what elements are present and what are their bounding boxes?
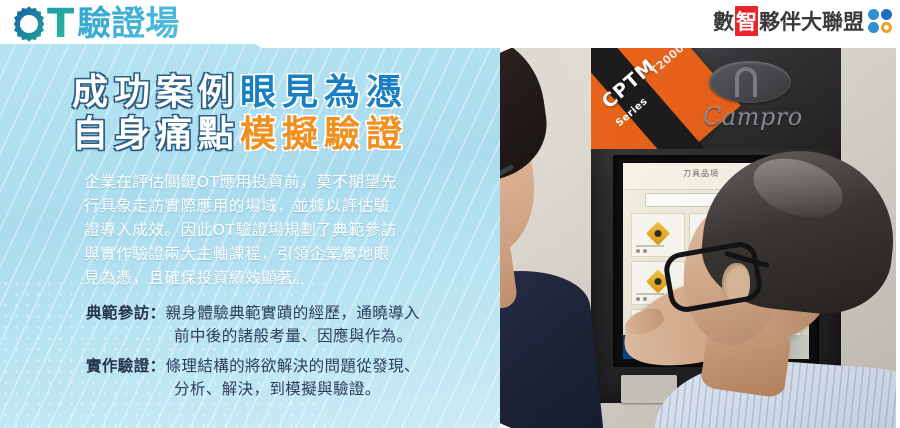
alliance-prefix: 數 — [713, 6, 734, 36]
headline-line-1: 成功案例眼見為憑 — [72, 72, 540, 114]
headline-line-1-accent: 眼見為憑 — [240, 72, 408, 113]
logo-chinese-text: 驗證場 — [77, 4, 179, 44]
alliance-dot-1 — [868, 9, 879, 20]
bullet-text-1: 親身體驗典範實蹟的經歷，通曉導入 — [166, 304, 420, 322]
header-bar: T 驗證場 數智夥伴大聯盟 — [0, 0, 900, 48]
alliance-dot-2 — [881, 9, 892, 20]
bullet-label: 實作驗證： — [86, 357, 166, 375]
photo-panel: CPTM Series T2000 Campro 刀具品項 — [500, 48, 900, 428]
headline-line-2-accent: 模擬驗證 — [240, 114, 408, 155]
alliance-suffix: 夥伴大聯盟 — [759, 6, 864, 36]
headline-block: 成功案例眼見為憑 自身痛點模擬驗證 — [0, 72, 540, 156]
body-line: 行具象走訪實際應用的場域，並據以評估驗 — [84, 194, 444, 218]
alliance-dot-4 — [881, 22, 892, 33]
bullet-text-2: 前中後的諸般考量、因應與作為。 — [86, 325, 540, 348]
headline-line-2: 自身痛點模擬驗證 — [72, 114, 540, 156]
bullet-text-2: 分析、解決，到模擬與驗證。 — [86, 378, 540, 401]
bullet-first-row: 實作驗證：條理結構的將欲解決的問題從發現、 — [86, 355, 540, 378]
site-logo[interactable]: T 驗證場 — [10, 2, 179, 46]
gear-o-icon — [10, 5, 48, 43]
alliance-logo[interactable]: 數智夥伴大聯盟 — [713, 6, 892, 36]
photo-scene: CPTM Series T2000 Campro 刀具品項 — [500, 48, 896, 428]
alliance-highlight-char: 智 — [735, 6, 758, 36]
bullet-first-row: 典範參訪：親身體驗典範實蹟的經歷，通曉導入 — [86, 302, 540, 325]
body-line: 與實作驗證兩大主軸課程，引領企業實地眼 — [84, 242, 444, 266]
bullet-label: 典範參訪： — [86, 304, 166, 322]
bullet-text-1: 條理結構的將欲解決的問題從發現、 — [166, 357, 420, 375]
alliance-text: 數智夥伴大聯盟 — [713, 6, 864, 36]
body-line: 證導入成效。因此OT驗證場規劃了典範參訪 — [84, 218, 444, 242]
bullet-list: 典範參訪：親身體驗典範實蹟的經歷，通曉導入 前中後的諸般考量、因應與作為。 實作… — [0, 302, 540, 401]
promotional-banner: T 驗證場 數智夥伴大聯盟 成功案例眼見為憑 自身痛點模擬驗證 — [0, 0, 900, 428]
alliance-dots-icon — [868, 9, 892, 33]
body-line: 企業在評估關鍵OT應用投資前，莫不期望先 — [84, 170, 444, 194]
headline-line-2-white: 自身痛點 — [72, 114, 240, 155]
content-column: 成功案例眼見為憑 自身痛點模擬驗證 企業在評估關鍵OT應用投資前，莫不期望先 行… — [0, 48, 540, 428]
alliance-dot-3 — [868, 22, 879, 33]
photo-image: CPTM Series T2000 Campro 刀具品項 — [500, 48, 896, 428]
headline-line-1-white: 成功案例 — [72, 72, 240, 113]
list-item: 典範參訪：親身體驗典範實蹟的經歷，通曉導入 前中後的諸般考量、因應與作為。 — [86, 302, 540, 348]
body-line: 見為憑，且確保投資績效顯著。 — [84, 266, 444, 290]
photo-shading-overlay — [500, 48, 896, 428]
logo-letter-t: T — [47, 5, 74, 43]
list-item: 實作驗證：條理結構的將欲解決的問題從發現、 分析、解決，到模擬與驗證。 — [86, 355, 540, 401]
body-paragraph: 企業在評估關鍵OT應用投資前，莫不期望先 行具象走訪實際應用的場域，並據以評估驗… — [0, 170, 444, 290]
